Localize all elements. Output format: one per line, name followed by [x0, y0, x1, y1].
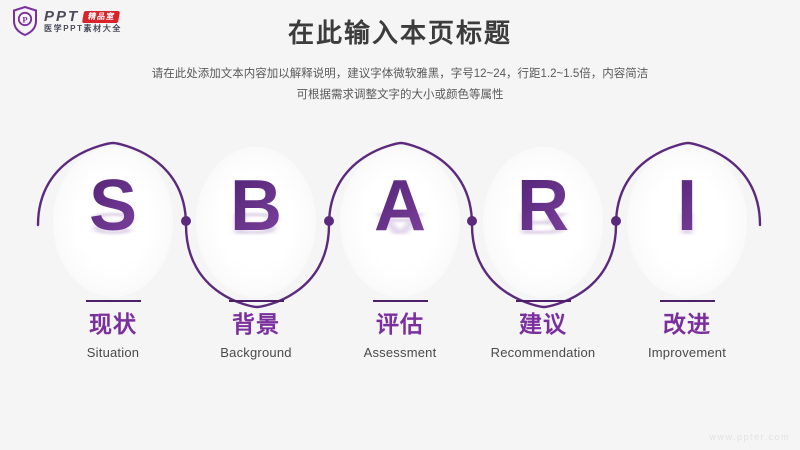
step-label-situation[interactable]: 现状 Situation — [33, 300, 193, 361]
site-watermark: www.ppter.com — [709, 432, 790, 442]
subtitle-line-1: 请在此处添加文本内容加以解释说明，建议字体微软雅黑，字号12~24，行距1.2~… — [0, 64, 800, 85]
label-divider — [373, 300, 428, 302]
label-title-cn: 现状 — [33, 310, 193, 339]
node-dot-3 — [467, 216, 477, 226]
page-title: 在此输入本页标题 — [0, 18, 800, 49]
sbar-i-diagram: S B A R I S B A R I — [0, 135, 800, 315]
step-label-assessment[interactable]: 评估 Assessment — [320, 300, 480, 361]
step-letter-recommendation: R — [483, 170, 603, 242]
step-letter-situation: S — [53, 170, 173, 242]
step-labels: 现状 Situation 背景 Background 评估 Assessment… — [0, 300, 800, 400]
page-subtitle: 请在此处添加文本内容加以解释说明，建议字体微软雅黑，字号12~24，行距1.2~… — [0, 64, 800, 107]
step-label-improvement[interactable]: 改进 Improvement — [607, 300, 767, 361]
label-title-en: Background — [176, 345, 336, 361]
label-title-en: Improvement — [607, 345, 767, 361]
label-divider — [516, 300, 571, 302]
label-divider — [660, 300, 715, 302]
label-title-en: Assessment — [320, 345, 480, 361]
label-title-cn: 改进 — [607, 310, 767, 339]
label-title-cn: 建议 — [463, 310, 623, 339]
label-title-en: Recommendation — [463, 345, 623, 361]
label-divider — [86, 300, 141, 302]
node-dot-2 — [324, 216, 334, 226]
label-divider — [229, 300, 284, 302]
step-label-background[interactable]: 背景 Background — [176, 300, 336, 361]
label-title-en: Situation — [33, 345, 193, 361]
subtitle-line-2: 可根据需求调整文字的大小或颜色等属性 — [0, 85, 800, 106]
label-title-cn: 背景 — [176, 310, 336, 339]
label-title-cn: 评估 — [320, 310, 480, 339]
step-letter-background: B — [196, 170, 316, 242]
step-letter-assessment: A — [340, 170, 460, 242]
node-dot-4 — [611, 216, 621, 226]
node-dot-1 — [181, 216, 191, 226]
step-letter-improvement: I — [627, 170, 747, 242]
step-label-recommendation[interactable]: 建议 Recommendation — [463, 300, 623, 361]
